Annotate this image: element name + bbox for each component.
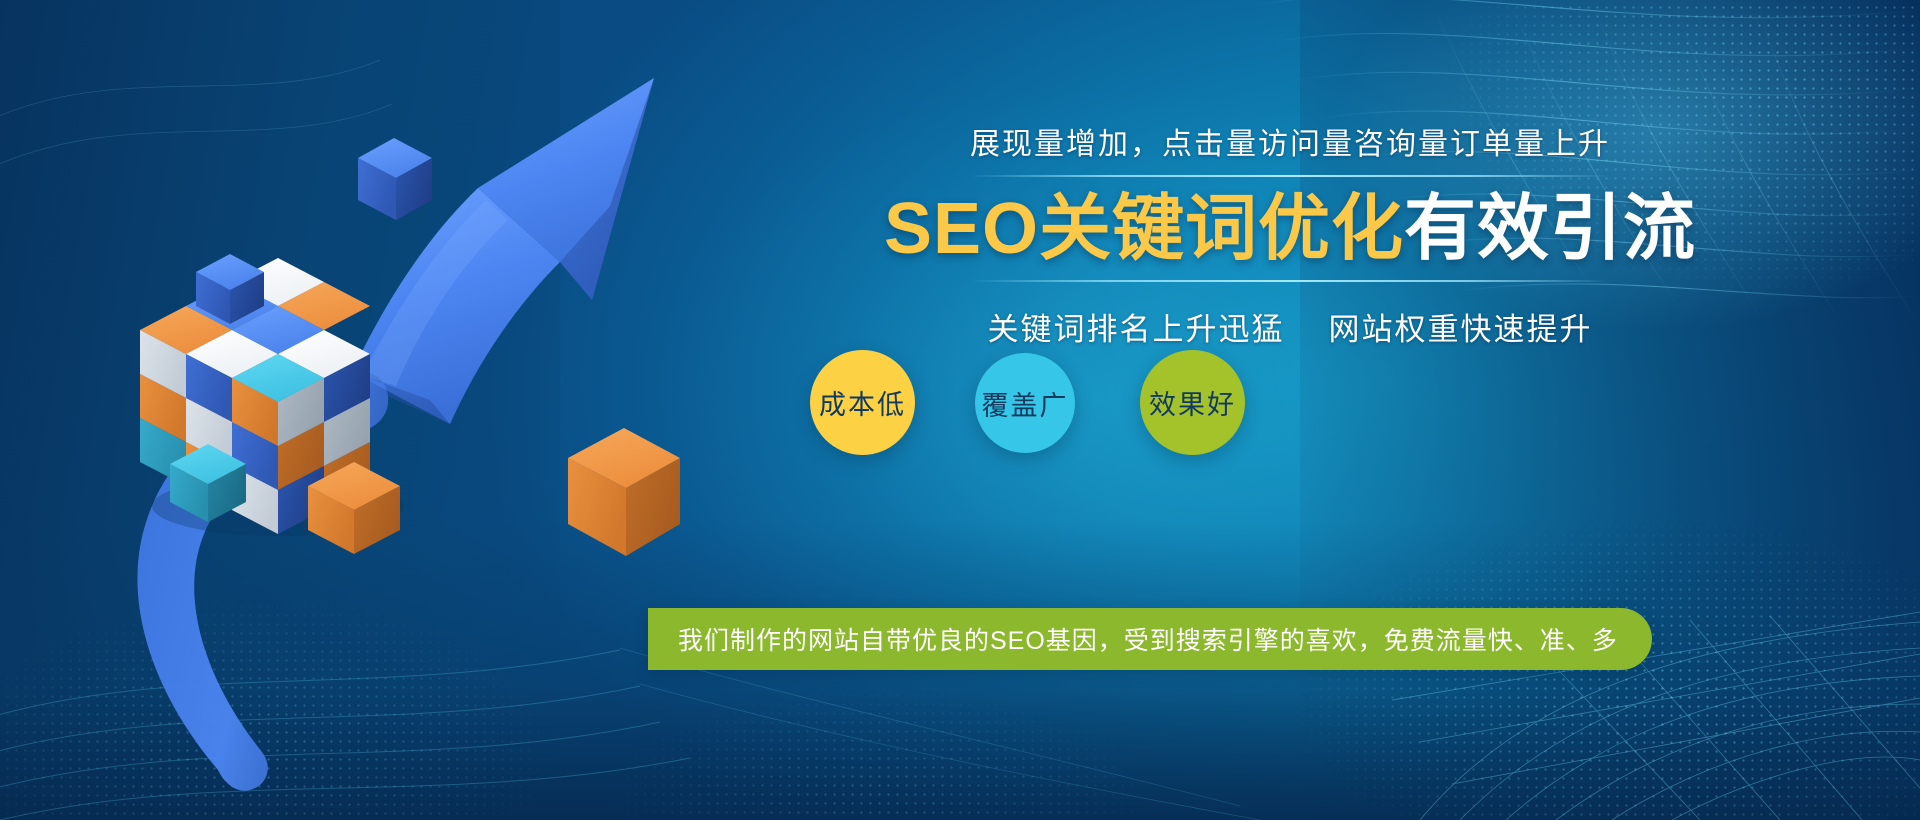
benefit-badges: 成本低 覆盖广 效果好 <box>810 350 1370 460</box>
footer-callout-text: 我们制作的网站自带优良的SEO基因，受到搜索引擎的喜欢，免费流量快、准、多 <box>678 621 1618 657</box>
badge-low-cost[interactable]: 成本低 <box>810 350 915 455</box>
badge-wide-coverage[interactable]: 覆盖广 <box>975 353 1075 453</box>
footer-callout-banner: 我们制作的网站自带优良的SEO基因，受到搜索引擎的喜欢，免费流量快、准、多 <box>648 608 1652 670</box>
badge-good-results-label: 效果好 <box>1149 383 1236 422</box>
page-title: SEO关键词优化有效引流 <box>700 187 1880 272</box>
cube-and-arrow-illustration <box>0 0 720 820</box>
subtitle-left: 关键词排名上升迅猛 <box>988 312 1285 347</box>
headline-plain: 有效引流 <box>1404 189 1696 269</box>
seo-promo-banner: 展现量增加，点击量访问量咨询量订单量上升 SEO关键词优化有效引流 关键词排名上… <box>0 0 1920 820</box>
badge-good-results[interactable]: 效果好 <box>1140 350 1245 455</box>
kicker-text: 展现量增加，点击量访问量咨询量订单量上升 <box>700 128 1880 175</box>
subtitle-right: 网站权重快速提升 <box>1329 312 1593 347</box>
divider-bottom <box>970 280 1610 282</box>
badge-wide-coverage-label: 覆盖广 <box>982 384 1069 423</box>
badge-low-cost-label: 成本低 <box>819 383 906 422</box>
divider-top <box>970 175 1610 177</box>
headline-accent: SEO关键词优化 <box>884 189 1404 269</box>
subtitle-row: 关键词排名上升迅猛网站权重快速提升 <box>700 304 1880 349</box>
headline-block: 展现量增加，点击量访问量咨询量订单量上升 SEO关键词优化有效引流 关键词排名上… <box>700 128 1880 349</box>
